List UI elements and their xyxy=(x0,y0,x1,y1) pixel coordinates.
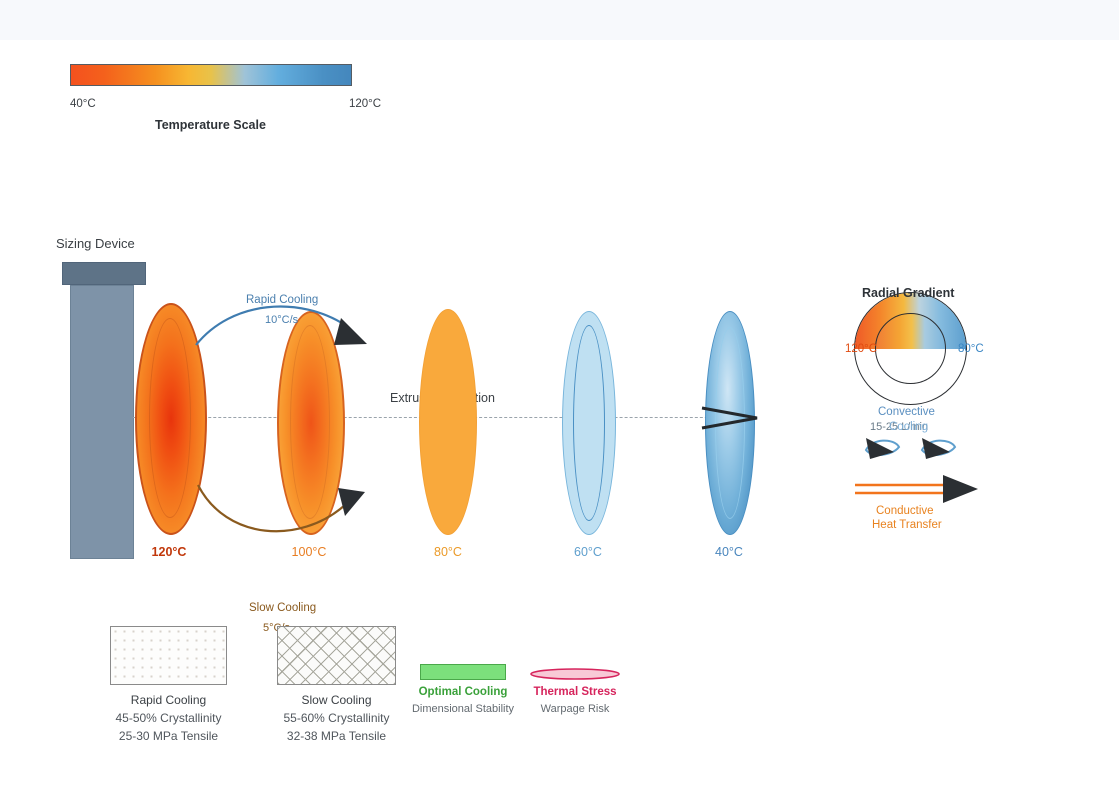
rapid-cooling-arrowhead xyxy=(334,318,367,345)
microstructure-slow-tensile: 32-38 MPa Tensile xyxy=(266,729,407,743)
optimal-cooling-swatch xyxy=(420,664,506,680)
temperature-scale-gradient xyxy=(70,64,352,86)
radial-gradient-title: Radial Gradient xyxy=(862,286,954,300)
conductive-heat-transfer-label-line1: Conductive xyxy=(876,505,934,517)
top-band xyxy=(0,0,1119,40)
optimal-cooling-title: Optimal Cooling xyxy=(406,686,520,698)
slow-cooling-label: Slow Cooling xyxy=(249,602,316,614)
convective-cooling-icon-1 xyxy=(866,438,899,459)
microstructure-swatch-slow xyxy=(277,626,396,685)
microstructure-rapid-crystallinity: 45-50% Crystallinity xyxy=(98,711,239,725)
profile-temp-label-40: 40°C xyxy=(684,545,774,559)
radial-gradient-right-temp: 80°C xyxy=(958,343,984,355)
microstructure-slow-crystallinity: 55-60% Crystallinity xyxy=(266,711,407,725)
thermal-stress-subtitle: Warpage Risk xyxy=(518,703,632,715)
diagram-canvas: 40°C 120°C Temperature Scale Sizing Devi… xyxy=(0,0,1119,810)
sizing-device-label: Sizing Device xyxy=(56,236,135,251)
profile-section-60-inner-ring xyxy=(573,325,605,521)
slow-cooling-arrowhead xyxy=(338,488,365,516)
microstructure-slow-title: Slow Cooling xyxy=(276,693,397,707)
radial-gradient-left-temp: 120°C xyxy=(845,343,877,355)
profile-section-120-inner-ring xyxy=(149,318,191,518)
profile-section-100-inner-ring xyxy=(290,325,330,519)
rapid-cooling-rate-label: 10°C/s xyxy=(265,314,298,326)
thermal-stress-swatch xyxy=(531,669,619,679)
convective-cooling-label-line1: Convective xyxy=(878,406,935,418)
optimal-cooling-subtitle: Dimensional Stability xyxy=(396,703,530,715)
microstructure-rapid-tensile: 25-30 MPa Tensile xyxy=(98,729,239,743)
conductive-heat-transfer-label-line2: Heat Transfer xyxy=(872,519,942,531)
conductive-heat-transfer-icon xyxy=(855,475,978,503)
convective-cooling-label-line2: Cooling xyxy=(889,421,928,433)
profile-temp-label-80: 80°C xyxy=(403,545,493,559)
profile-section-40-inner-ring xyxy=(715,327,745,519)
sizing-device-body xyxy=(70,285,134,559)
profile-temp-label-100: 100°C xyxy=(264,545,354,559)
microstructure-rapid-title: Rapid Cooling xyxy=(108,693,229,707)
convective-cooling-icon-2 xyxy=(922,438,955,459)
temperature-scale-max-label: 120°C xyxy=(349,98,381,110)
microstructure-swatch-rapid xyxy=(110,626,227,685)
temperature-scale-min-label: 40°C xyxy=(70,98,96,110)
sizing-device-cap xyxy=(62,262,146,285)
rapid-cooling-label: Rapid Cooling xyxy=(246,294,318,306)
profile-temp-label-120: 120°C xyxy=(124,545,214,559)
temperature-scale-title: Temperature Scale xyxy=(155,118,266,132)
radial-gradient-inner-ring xyxy=(875,313,946,384)
profile-temp-label-60: 60°C xyxy=(543,545,633,559)
profile-section-80 xyxy=(419,309,477,535)
thermal-stress-title: Thermal Stress xyxy=(518,686,632,698)
